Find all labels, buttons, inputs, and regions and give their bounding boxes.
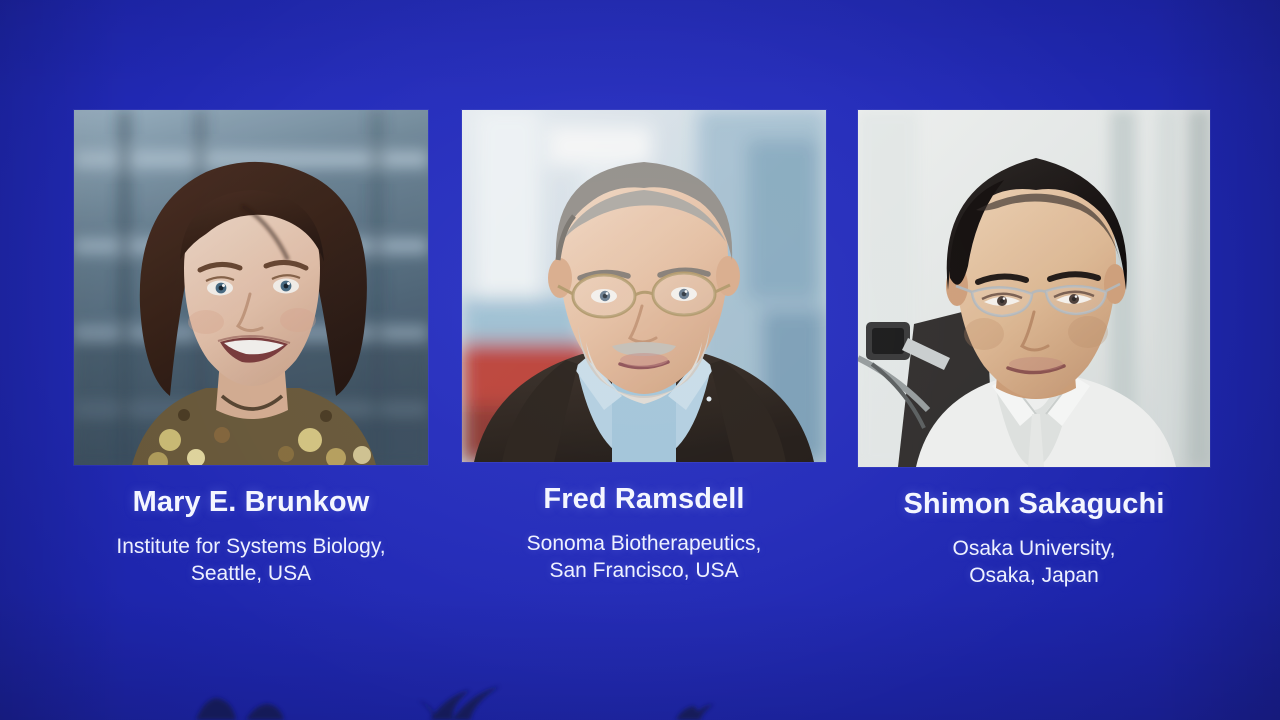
laureate-affiliation: Osaka University, Osaka, Japan xyxy=(858,535,1210,589)
laureate-affiliation: Sonoma Biotherapeutics, San Francisco, U… xyxy=(462,530,826,584)
affiliation-line-2: Seattle, USA xyxy=(74,560,428,587)
affiliation-line-2: San Francisco, USA xyxy=(462,557,826,584)
affiliation-line-1: Sonoma Biotherapeutics, xyxy=(527,532,762,555)
laureate-name: Fred Ramsdell xyxy=(462,484,826,515)
laureate-card: Mary E. Brunkow Institute for Systems Bi… xyxy=(74,110,428,587)
presentation-slide: Mary E. Brunkow Institute for Systems Bi… xyxy=(0,0,1280,720)
laureate-affiliation: Institute for Systems Biology, Seattle, … xyxy=(74,533,428,587)
laureate-card: Shimon Sakaguchi Osaka University, Osaka… xyxy=(858,110,1210,589)
foreground-silhouette xyxy=(0,660,1280,720)
laureate-name: Shimon Sakaguchi xyxy=(858,489,1210,520)
laureate-name: Mary E. Brunkow xyxy=(74,487,428,518)
laureate-portrait-photo xyxy=(74,110,428,465)
laureate-card: Fred Ramsdell Sonoma Biotherapeutics, Sa… xyxy=(462,110,826,584)
affiliation-line-1: Institute for Systems Biology, xyxy=(116,535,385,558)
laureate-portrait-photo xyxy=(858,110,1210,467)
affiliation-line-2: Osaka, Japan xyxy=(858,562,1210,589)
laureate-portrait-photo xyxy=(462,110,826,462)
affiliation-line-1: Osaka University, xyxy=(953,537,1116,560)
